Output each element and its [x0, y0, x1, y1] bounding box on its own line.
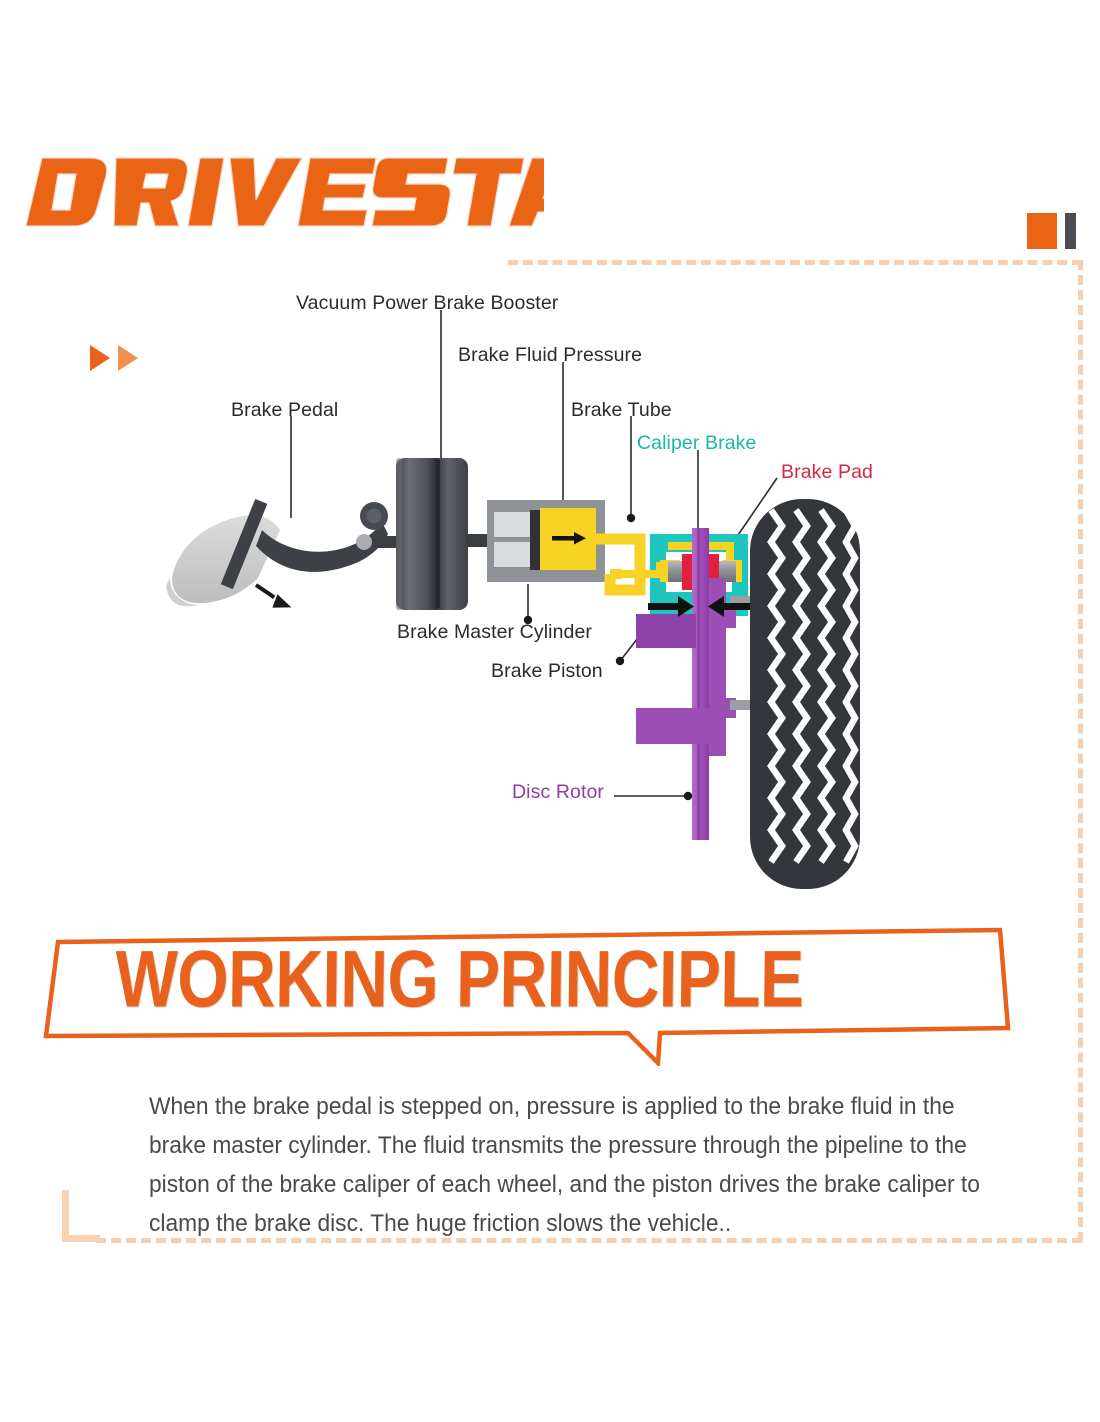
working-principle-banner: WORKING PRINCIPLE	[42, 906, 1042, 1066]
label-brake-master-cylinder: Brake Master Cylinder	[397, 621, 592, 644]
disc-rotor	[692, 528, 709, 840]
label-brake-piston: Brake Piston	[491, 660, 603, 683]
brake-system-diagram: Vacuum Power Brake Booster Brake Fluid P…	[0, 278, 1000, 898]
working-principle-paragraph: When the brake pedal is stepped on, pres…	[149, 1087, 991, 1243]
brand-logo	[24, 146, 544, 236]
banner-title: WORKING PRINCIPLE	[115, 932, 804, 1025]
corner-bracket-bottom-left	[62, 1190, 100, 1242]
brake-pad-left	[682, 554, 693, 590]
dashed-border-right	[1078, 260, 1083, 1242]
label-brake-tube: Brake Tube	[571, 399, 672, 422]
label-caliper-brake: Caliper Brake	[637, 432, 756, 455]
brake-system-svg	[0, 278, 1000, 898]
banner-title-wrap: WORKING PRINCIPLE	[42, 906, 1042, 1066]
corner-accent-square	[1027, 213, 1057, 249]
pedal-motion-arrow	[255, 583, 292, 608]
corner-accent-bar	[1065, 213, 1076, 249]
brand-logo-svg	[24, 146, 544, 236]
label-brake-fluid-pressure: Brake Fluid Pressure	[458, 344, 642, 367]
label-brake-pad: Brake Pad	[781, 461, 873, 484]
label-brake-pedal: Brake Pedal	[231, 399, 338, 422]
label-vacuum-power-brake-booster: Vacuum Power Brake Booster	[296, 292, 558, 315]
label-disc-rotor: Disc Rotor	[512, 781, 604, 804]
hub-flange	[636, 708, 716, 744]
hub-arm	[636, 614, 696, 648]
dashed-border-top	[508, 260, 1082, 265]
